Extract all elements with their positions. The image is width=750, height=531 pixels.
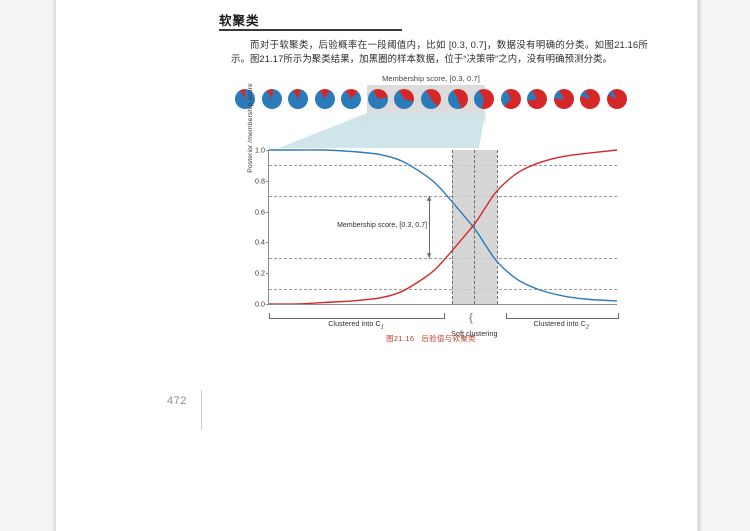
heading-rule xyxy=(219,29,402,31)
pie-strip-title: Membership score, [0.3, 0.7] xyxy=(231,74,631,83)
membership-pie xyxy=(448,89,468,109)
soft-clustering-brace-icon: { xyxy=(469,313,473,324)
label-right-text: Clustered into C xyxy=(534,320,586,328)
y-tick-label: 1.0 xyxy=(255,146,265,155)
label-left-subscript: 1 xyxy=(381,324,384,330)
membership-pie xyxy=(527,89,547,109)
y-tick-label: 0.4 xyxy=(255,238,265,247)
arrowhead xyxy=(427,253,432,257)
bracket-clustered-c1 xyxy=(269,313,445,319)
bracket-clustered-c2 xyxy=(506,313,619,319)
label-clustered-into-c2: Clustered into C2 xyxy=(506,320,617,330)
membership-pie xyxy=(368,89,388,109)
page-number: 472 xyxy=(167,395,187,407)
membership-score-annotation: Membership score, [0.3, 0.7] xyxy=(337,222,427,229)
page-edge-right xyxy=(697,0,702,531)
membership-pie xyxy=(580,89,600,109)
figure-caption: 图21.16后验值与软聚类 xyxy=(231,333,631,344)
pie-row xyxy=(231,87,631,111)
membership-pie xyxy=(315,89,335,109)
body-paragraph: 而对于软聚类，后验概率在一段阈值内，比如 [0.3, 0.7]，数据没有明确的分… xyxy=(231,38,648,67)
membership-pie xyxy=(288,89,308,109)
posterior-membership-chart: Posterior /membership score 0.00.20.40.6… xyxy=(231,146,631,352)
book-page: 软聚类 而对于软聚类，后验概率在一段阈值内，比如 [0.3, 0.7]，数据没有… xyxy=(56,0,697,531)
figure-caption-number: 图21.16 xyxy=(386,334,414,343)
membership-score-arrowheads xyxy=(269,150,617,304)
y-tick-label: 0.6 xyxy=(255,207,265,216)
label-clustered-into-c1: Clustered into C1 xyxy=(269,320,443,330)
membership-pie xyxy=(341,89,361,109)
x-axis-line xyxy=(269,304,617,305)
page-number-rule xyxy=(201,390,202,430)
label-right-subscript: 2 xyxy=(586,324,589,330)
y-axis-label: Posterior /membership score xyxy=(247,78,254,178)
membership-pie xyxy=(554,89,574,109)
screenshot-viewport: 软聚类 而对于软聚类，后验概率在一段阈值内，比如 [0.3, 0.7]，数据没有… xyxy=(0,0,750,531)
membership-pie xyxy=(474,89,494,109)
arrowhead xyxy=(427,196,432,201)
y-tick-label: 0.2 xyxy=(255,269,265,278)
y-tick-label: 0.0 xyxy=(255,300,265,309)
membership-pie xyxy=(421,89,441,109)
plot-area: Posterior /membership score 0.00.20.40.6… xyxy=(269,150,617,304)
y-axis-line xyxy=(268,150,269,304)
membership-pie xyxy=(394,89,414,109)
zoom-callout-connector xyxy=(231,112,631,148)
figure-caption-text: 后验值与软聚类 xyxy=(421,334,476,343)
membership-pie xyxy=(501,89,521,109)
label-left-text: Clustered into C xyxy=(328,320,380,328)
y-tick-label: 0.8 xyxy=(255,176,265,185)
page-title: 软聚类 xyxy=(219,10,260,29)
figure-21-16: Membership score, [0.3, 0.7] Posterior /… xyxy=(231,74,631,352)
membership-pie xyxy=(607,89,627,109)
membership-pie xyxy=(262,89,282,109)
